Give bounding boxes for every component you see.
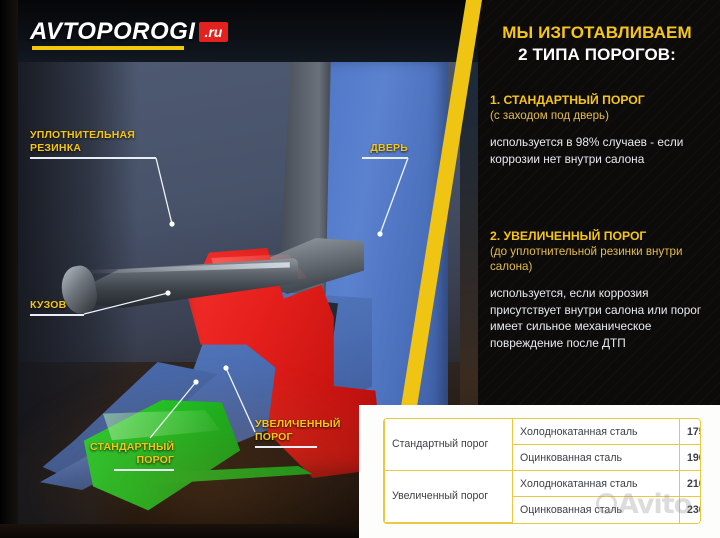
callout-standard-sill: СТАНДАРТНЫЙ ПОРОГ [90, 441, 174, 471]
price-table-area: Стандартный порог Холоднокатанная сталь … [359, 405, 720, 538]
panel-heading-line1: МЫ ИЗГОТАВЛИВАЕМ [474, 22, 720, 44]
table-row: Стандартный порог Холоднокатанная сталь … [385, 419, 702, 445]
callout-rule [255, 446, 317, 448]
price-row-material: Холоднокатанная сталь [513, 419, 680, 445]
price-row-material: Оцинкованная сталь [513, 497, 680, 523]
brand-logo[interactable]: AVTOPOROGI .ru [30, 20, 228, 44]
callout-enlarged-sill-line2: ПОРОГ [255, 431, 341, 444]
logo-underline-bar [32, 46, 184, 50]
callout-rule [30, 314, 84, 316]
callout-door: ДВЕРЬ [362, 142, 408, 159]
block-body: используется в 98% случаев - если корроз… [490, 134, 710, 167]
price-row-price: 2100р. [680, 471, 702, 497]
block-subtitle: (до уплотнительной резинки внутри салона… [490, 244, 710, 274]
callout-standard-sill-line1: СТАНДАРТНЫЙ [90, 441, 174, 454]
price-row-category: Стандартный порог [385, 419, 513, 471]
callout-rubber-seal-line1: УПЛОТНИТЕЛЬНАЯ [30, 129, 156, 142]
callout-enlarged-sill-line1: УВЕЛИЧЕННЫЙ [255, 418, 341, 431]
banner-left-frame [0, 0, 18, 538]
block-title: 1. СТАНДАРТНЫЙ ПОРОГ [490, 92, 710, 108]
callout-body: КУЗОВ [30, 299, 84, 316]
price-row-price: 1900р. [680, 445, 702, 471]
table-row: Увеличенный порог Холоднокатанная сталь … [385, 471, 702, 497]
sill-type-block-enlarged: 2. УВЕЛИЧЕННЫЙ ПОРОГ (до уплотнительной … [478, 228, 720, 351]
callout-body-line1: КУЗОВ [30, 299, 84, 312]
panel-heading-line2: 2 ТИПА ПОРОГОВ: [474, 44, 720, 66]
block-body: используется, если коррозия присутствует… [490, 285, 710, 351]
price-row-material: Холоднокатанная сталь [513, 471, 680, 497]
block-subtitle: (с заходом под дверь) [490, 108, 710, 123]
callout-door-line1: ДВЕРЬ [362, 142, 408, 155]
logo-tld-badge: .ru [199, 22, 228, 42]
callout-rule [30, 157, 156, 159]
price-row-material: Оцинкованная сталь [513, 445, 680, 471]
callout-rule [114, 469, 174, 471]
promo-banner: УПЛОТНИТЕЛЬНАЯ РЕЗИНКА ДВЕРЬ КУЗОВ СТАНД… [0, 0, 720, 538]
price-table: Стандартный порог Холоднокатанная сталь … [384, 419, 701, 523]
price-row-price: 1750р. [680, 419, 702, 445]
sill-type-block-standard: 1. СТАНДАРТНЫЙ ПОРОГ (с заходом под двер… [478, 92, 720, 167]
price-table-frame: Стандартный порог Холоднокатанная сталь … [383, 418, 701, 524]
panel-heading: МЫ ИЗГОТАВЛИВАЕМ 2 ТИПА ПОРОГОВ: [474, 22, 720, 66]
callout-rule [362, 157, 408, 159]
price-row-price: 2300р. [680, 497, 702, 523]
logo-wordmark: AVTOPOROGI [30, 20, 195, 44]
callout-rubber-seal: УПЛОТНИТЕЛЬНАЯ РЕЗИНКА [30, 129, 156, 159]
callout-rubber-seal-line2: РЕЗИНКА [30, 142, 156, 155]
price-row-category: Увеличенный порог [385, 471, 513, 523]
callout-enlarged-sill: УВЕЛИЧЕННЫЙ ПОРОГ [255, 418, 341, 448]
block-title: 2. УВЕЛИЧЕННЫЙ ПОРОГ [490, 228, 710, 244]
callout-standard-sill-line2: ПОРОГ [90, 454, 174, 467]
